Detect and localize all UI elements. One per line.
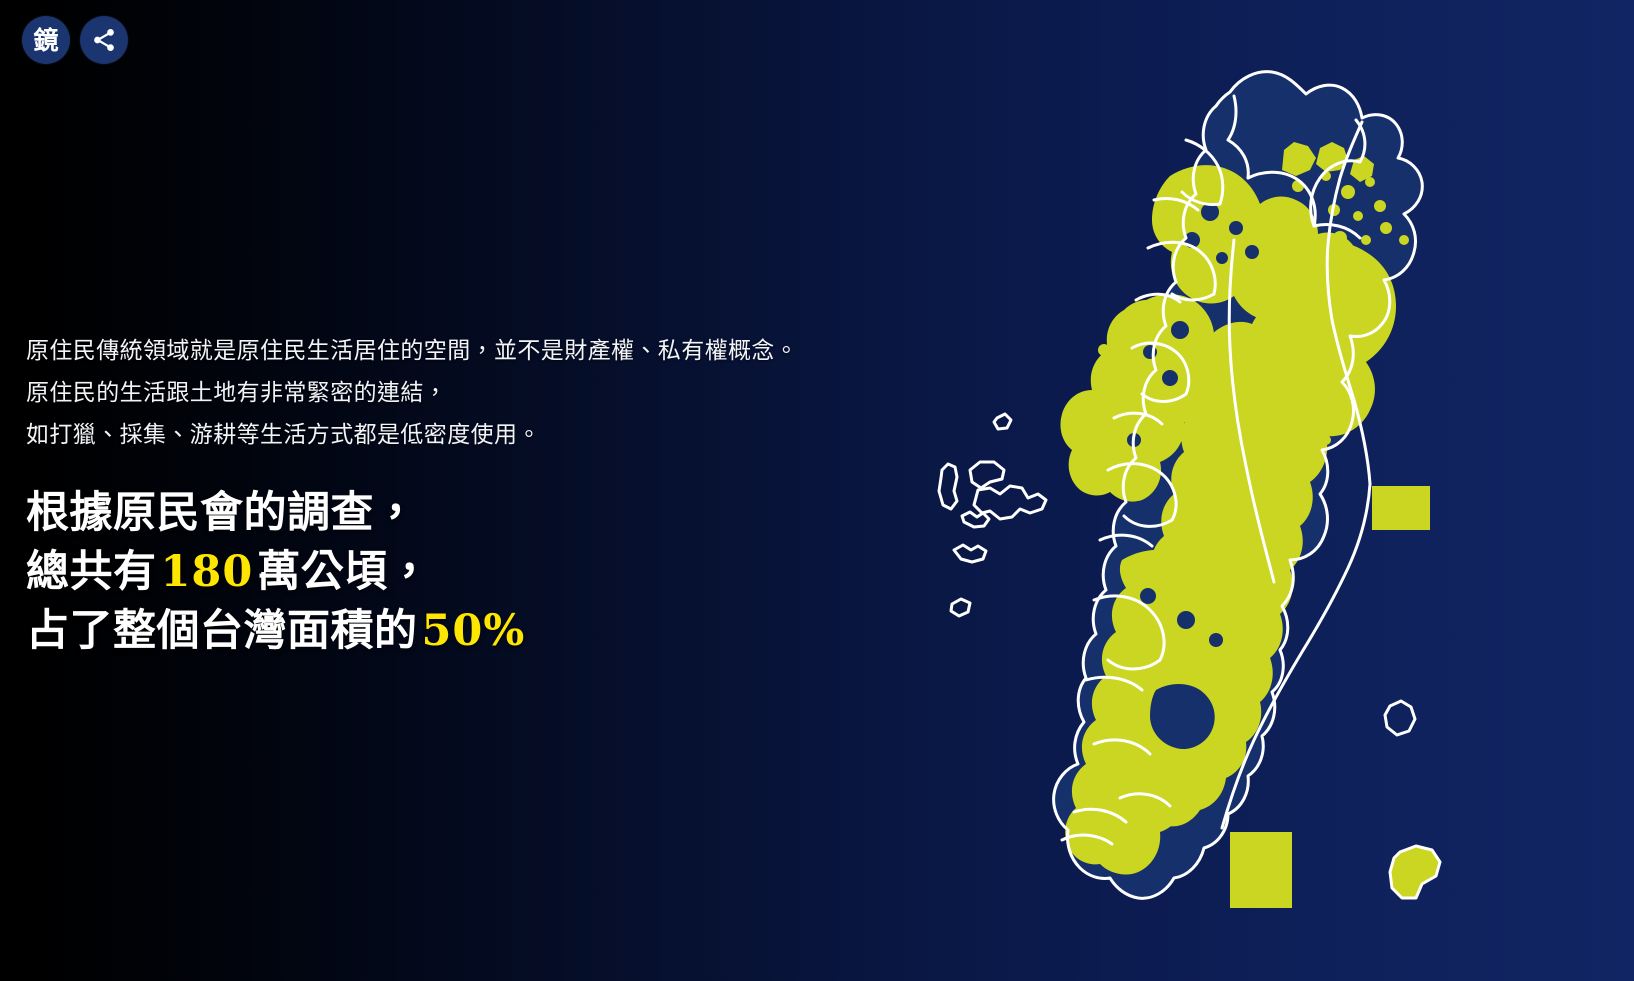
headline-line-3: 占了整個台灣面積的50%	[26, 602, 886, 661]
penghu-islands	[939, 414, 1046, 616]
mirror-media-logo-icon: 鏡	[33, 28, 58, 53]
headline-line-2-suffix: 萬公頃，	[257, 547, 431, 597]
headline-line-2: 總共有180萬公頃，	[26, 543, 886, 602]
share-percent-value: 50%	[418, 606, 530, 656]
taiwan-mainland	[1054, 72, 1430, 908]
headline-line-1: 根據原民會的調查，	[26, 484, 886, 543]
taiwan-map-svg	[934, 0, 1634, 981]
body-paragraph: 原住民傳統領域就是原住民生活居住的空間，並不是財產權、私有權概念。 原住民的生活…	[26, 330, 886, 456]
top-action-bar: 鏡	[22, 16, 128, 64]
body-line-3: 如打獵、採集、游耕等生活方式都是低密度使用。	[26, 414, 886, 456]
content-text-column: 原住民傳統領域就是原住民生活居住的空間，並不是財產權、私有權概念。 原住民的生活…	[26, 330, 886, 661]
taiwan-map-panel	[934, 0, 1634, 981]
body-line-1: 原住民傳統領域就是原住民生活居住的空間，並不是財產權、私有權概念。	[26, 330, 886, 372]
infographic-slide: 鏡 原住民傳統領域就是原住民生活居住的空間，並不是財產權、私有權概念。 原住民的…	[0, 0, 1634, 981]
headline-line-2-prefix: 總共有	[26, 547, 157, 597]
share-icon	[91, 27, 117, 53]
total-hectares-value: 180	[157, 547, 258, 597]
green-island	[1385, 701, 1415, 735]
mirror-media-logo-button[interactable]: 鏡	[22, 16, 70, 64]
headline-line-3-prefix: 占了整個台灣面積的	[26, 606, 418, 656]
headline-block: 根據原民會的調查， 總共有180萬公頃， 占了整個台灣面積的50%	[26, 484, 886, 661]
orchid-island	[1390, 846, 1440, 898]
body-line-2: 原住民的生活跟土地有非常緊密的連結，	[26, 372, 886, 414]
share-button[interactable]	[80, 16, 128, 64]
